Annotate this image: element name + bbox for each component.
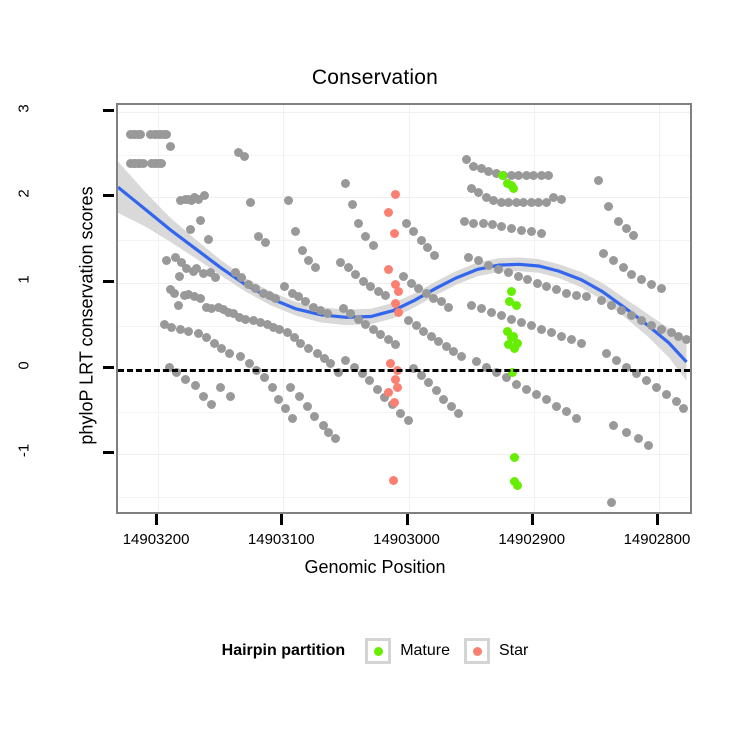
data-point-other	[602, 349, 611, 358]
data-point-other	[627, 311, 636, 320]
x-axis-tick	[406, 514, 409, 525]
x-axis-tick	[280, 514, 283, 525]
data-point-other	[542, 282, 551, 291]
data-point-other	[404, 416, 413, 425]
data-point-other	[507, 224, 516, 233]
legend-items: MatureStar	[365, 638, 528, 664]
data-point-other	[567, 335, 576, 344]
data-point-other	[533, 279, 542, 288]
data-point-other	[572, 291, 581, 300]
y-axis-tick-label: -1	[16, 431, 33, 471]
data-point-other	[170, 289, 179, 298]
data-point-other	[469, 219, 478, 228]
data-point-other	[514, 272, 523, 281]
chart-title: Conservation	[0, 66, 750, 90]
data-point-star	[394, 308, 403, 317]
x-axis-title: Genomic Position	[0, 557, 750, 578]
data-point-other	[517, 226, 526, 235]
data-point-other	[507, 315, 516, 324]
data-point-other	[517, 318, 526, 327]
y-axis-tick-label: 1	[16, 260, 33, 300]
data-point-other	[467, 301, 476, 310]
data-point-other	[607, 301, 616, 310]
data-point-other	[225, 349, 234, 358]
data-point-other	[527, 227, 536, 236]
y-axis-tick	[103, 280, 114, 283]
plot-panel	[116, 103, 692, 514]
y-axis-tick	[103, 194, 114, 197]
data-point-other	[662, 390, 671, 399]
data-point-other	[454, 409, 463, 418]
data-point-star	[393, 383, 402, 392]
data-point-other	[457, 352, 466, 361]
data-point-other	[444, 303, 453, 312]
data-point-other	[304, 344, 313, 353]
y-axis-tick	[103, 109, 114, 112]
x-axis-tick-label: 14902900	[477, 531, 587, 548]
data-point-mature	[512, 301, 521, 310]
data-point-other	[373, 385, 382, 394]
data-point-other	[612, 356, 621, 365]
data-point-other	[303, 402, 312, 411]
data-point-other	[652, 383, 661, 392]
data-point-other	[186, 225, 195, 234]
data-point-other	[298, 246, 307, 255]
data-point-other	[184, 327, 193, 336]
legend-dot-icon	[473, 647, 482, 656]
data-point-other	[557, 332, 566, 341]
data-point-other	[295, 392, 304, 401]
data-point-other	[174, 301, 183, 310]
data-point-other	[472, 357, 481, 366]
data-point-other	[268, 383, 277, 392]
y-axis-tick-label: 0	[16, 345, 33, 385]
legend-item-mature[interactable]: Mature	[365, 638, 450, 664]
data-point-mature	[507, 287, 516, 296]
y-axis-tick-label: 3	[16, 88, 33, 128]
data-point-other	[181, 375, 190, 384]
legend-label: Star	[499, 642, 528, 660]
data-point-other	[136, 130, 145, 139]
data-point-other	[399, 272, 408, 281]
data-point-other	[280, 282, 289, 291]
x-axis-tick	[531, 514, 534, 525]
data-point-other	[494, 265, 503, 274]
data-point-other	[477, 304, 486, 313]
data-point-other	[281, 404, 290, 413]
data-point-other	[204, 235, 213, 244]
data-point-other	[597, 296, 606, 305]
data-point-other	[629, 231, 638, 240]
y-axis-tick-label: 2	[16, 174, 33, 214]
legend-label: Mature	[400, 642, 450, 660]
y-axis-tick	[103, 366, 114, 369]
x-axis-tick-label: 14903200	[101, 531, 211, 548]
data-point-other	[464, 253, 473, 262]
data-point-other	[562, 407, 571, 416]
y-axis-tick	[103, 451, 114, 454]
data-point-other	[542, 395, 551, 404]
x-axis-tick-label: 14902800	[602, 531, 712, 548]
data-point-other	[226, 392, 235, 401]
data-point-other	[211, 273, 220, 282]
data-point-other	[402, 219, 411, 228]
data-point-other	[354, 219, 363, 228]
data-point-other	[423, 243, 432, 252]
legend-title: Hairpin partition	[222, 642, 346, 660]
data-point-other	[522, 385, 531, 394]
legend-key-box	[365, 638, 391, 664]
legend: Hairpin partition MatureStar	[0, 638, 750, 664]
data-point-other	[139, 159, 148, 168]
data-point-other	[194, 329, 203, 338]
data-point-other	[552, 402, 561, 411]
data-point-other	[537, 325, 546, 334]
data-point-other	[497, 222, 506, 231]
data-point-other	[162, 130, 171, 139]
data-point-other	[547, 328, 556, 337]
data-point-other	[424, 378, 433, 387]
data-point-other	[497, 311, 506, 320]
data-point-other	[274, 395, 283, 404]
y-axis-title: phyloP LRT conservation scores	[77, 106, 98, 526]
data-point-other	[166, 142, 175, 151]
data-point-other	[537, 229, 546, 238]
data-point-other	[627, 270, 636, 279]
data-point-other	[260, 373, 269, 382]
data-point-other	[604, 202, 613, 211]
zero-reference-line	[118, 369, 690, 372]
data-point-other	[369, 241, 378, 250]
data-point-other	[261, 238, 270, 247]
chart-root: Conservation phyloP LRT conservation sco…	[0, 0, 750, 750]
data-point-other	[348, 200, 357, 209]
data-point-mature	[513, 481, 522, 490]
data-point-star	[384, 265, 393, 274]
data-point-other	[157, 159, 166, 168]
data-point-other	[479, 219, 488, 228]
data-point-other	[622, 428, 631, 437]
data-point-other	[532, 390, 541, 399]
data-point-other	[577, 339, 586, 348]
data-point-star	[389, 476, 398, 485]
legend-item-star[interactable]: Star	[464, 638, 528, 664]
data-point-other	[657, 284, 666, 293]
data-point-other	[512, 380, 521, 389]
data-point-other	[175, 272, 184, 281]
data-point-other	[288, 414, 297, 423]
data-point-other	[617, 306, 626, 315]
data-point-other	[240, 152, 249, 161]
data-point-other	[487, 308, 496, 317]
data-point-other	[562, 289, 571, 298]
data-point-other	[557, 195, 566, 204]
x-axis-tick	[155, 514, 158, 525]
data-point-other	[657, 325, 666, 334]
x-axis-tick-label: 14903000	[352, 531, 462, 548]
data-point-other	[572, 414, 581, 423]
x-axis-tick-label: 14903100	[226, 531, 336, 548]
data-point-other	[607, 498, 616, 507]
legend-key-box	[464, 638, 490, 664]
data-point-other	[544, 171, 553, 180]
x-axis-tick	[656, 514, 659, 525]
legend-dot-icon	[374, 647, 383, 656]
